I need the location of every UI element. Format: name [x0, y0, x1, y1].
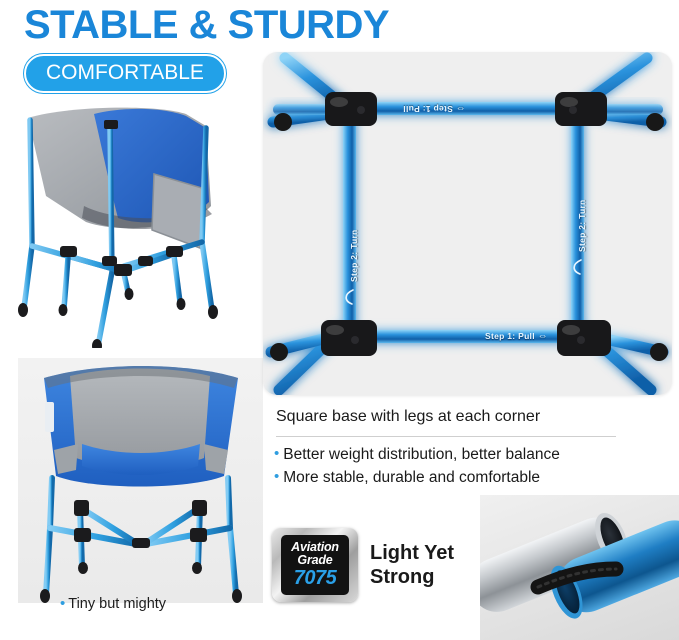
benefits-list: • Better weight distribution, better bal…: [274, 444, 624, 490]
light-yet-strong-caption: Light Yet Strong: [370, 541, 454, 589]
step-label-text: Step 2: Turn: [349, 229, 359, 282]
aluminum-tubes-photo: [480, 495, 679, 640]
chair-photo-side: [6, 96, 258, 348]
list-item-label: More stable, durable and comfortable: [283, 467, 540, 488]
badge-line-2: Grade: [297, 554, 332, 567]
status-badge-comfortable: COMFORTABLE: [24, 54, 226, 93]
aviation-grade-badge-core: Aviation Grade 7075: [281, 535, 349, 595]
caption-line-1: Light Yet: [370, 541, 454, 565]
brand-tag: [45, 402, 54, 432]
square-base-diagram-panel: ⇔ Step 1: Pull Step 1: Pull ⇔ Step 2: Tu…: [263, 52, 672, 395]
aviation-grade-badge: Aviation Grade 7075: [272, 528, 358, 602]
page-title: STABLE & STURDY: [24, 0, 389, 50]
badge-alloy-number: 7075: [294, 568, 337, 589]
bullet-dot-icon: •: [274, 467, 279, 487]
step-label-top-pull: ⇔ Step 1: Pull: [403, 103, 466, 114]
step-label-text: Step 2: Turn: [577, 199, 587, 252]
step-label-text: Step 1: Pull: [403, 104, 453, 114]
list-item: • Better weight distribution, better bal…: [274, 444, 624, 465]
step-label-text: Step 1: Pull: [485, 331, 535, 341]
chair-photo-front: [18, 358, 263, 603]
caption-text: Tiny but mighty: [68, 596, 166, 612]
list-item-label: Better weight distribution, better balan…: [283, 444, 560, 465]
step-label-left-turn: Step 2: Turn: [349, 229, 359, 282]
caption-tiny-but-mighty: •Tiny but mighty: [60, 595, 166, 612]
turn-arrow-icon-right: [569, 258, 585, 276]
bullet-dot-icon: •: [60, 595, 65, 612]
infographic-page: STABLE & STURDY COMFORTABLE: [0, 0, 679, 640]
divider: [276, 436, 616, 437]
bullet-dot-icon: •: [274, 444, 279, 464]
double-arrow-icon: ⇔: [538, 331, 548, 342]
double-arrow-icon: ⇔: [456, 103, 466, 114]
info-headline: Square base with legs at each corner: [276, 408, 540, 426]
step-label-bottom-pull: Step 1: Pull ⇔: [485, 331, 548, 342]
turn-arrow-icon-left: [341, 288, 357, 306]
list-item: • More stable, durable and comfortable: [274, 467, 624, 488]
step-label-right-turn: Step 2: Turn: [577, 199, 587, 252]
caption-line-2: Strong: [370, 565, 454, 589]
